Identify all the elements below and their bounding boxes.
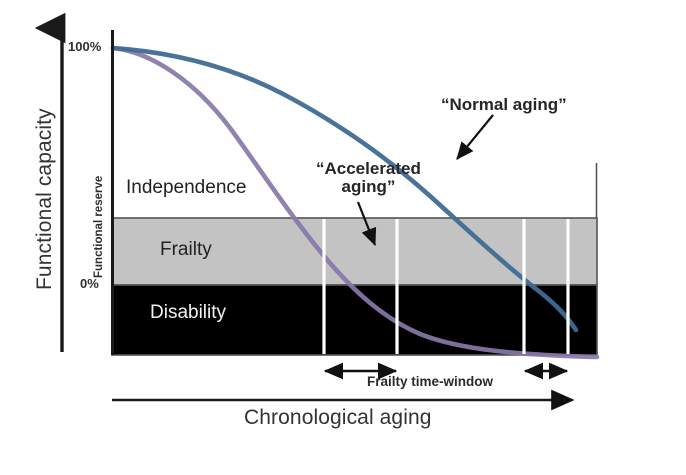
- band-label-frailty: Frailty: [160, 240, 212, 260]
- figure-container: Functional capacity Functional reserve 1…: [0, 0, 686, 475]
- callout-accelerated-aging-line1: “Accelerated: [316, 159, 421, 178]
- y-tick-0: 0%: [80, 277, 99, 291]
- band-label-disability: Disability: [150, 303, 226, 323]
- callout-accelerated-aging-line2: aging”: [342, 177, 396, 196]
- band-label-independence: Independence: [126, 178, 246, 198]
- callout-normal-aging: “Normal aging”: [441, 96, 567, 114]
- y-axis-title: Functional capacity: [34, 108, 56, 290]
- callout-accelerated-aging: “Accelerated aging”: [316, 160, 421, 196]
- frailty-time-window-label: Frailty time-window: [367, 375, 493, 389]
- y-axis-inner-title: Functional reserve: [93, 176, 105, 278]
- leader-normal-aging: [457, 115, 493, 159]
- y-tick-100: 100%: [68, 40, 101, 54]
- x-axis-title: Chronological aging: [244, 407, 432, 429]
